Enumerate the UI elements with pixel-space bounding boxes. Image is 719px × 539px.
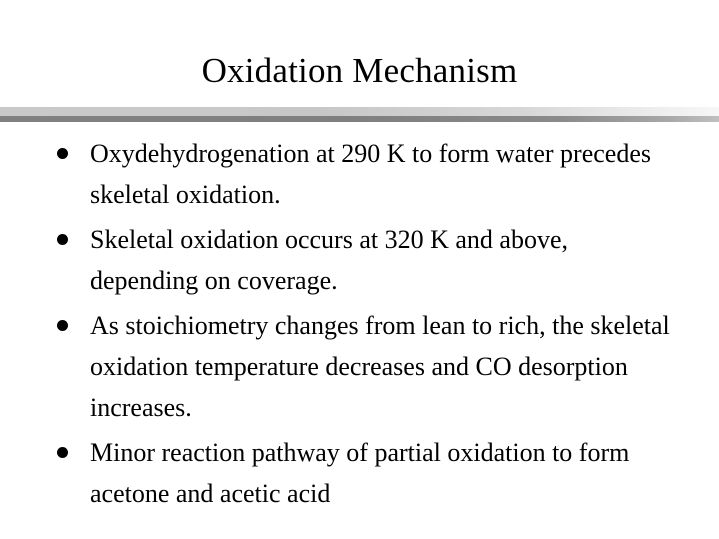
bullet-list: Oxydehydrogenation at 290 K to form wate… bbox=[0, 133, 719, 514]
bullet-dot-icon bbox=[57, 148, 68, 159]
bullet-dot-icon bbox=[57, 320, 68, 331]
bullet-dot-icon bbox=[57, 234, 68, 245]
list-item: Skeletal oxidation occurs at 320 K and a… bbox=[0, 219, 719, 301]
list-item: As stoichiometry changes from lean to ri… bbox=[0, 305, 719, 428]
slide-title-block: Oxidation Mechanism bbox=[0, 50, 719, 92]
list-item: Minor reaction pathway of partial oxidat… bbox=[0, 432, 719, 514]
list-item-label: Oxydehydrogenation at 290 K to form wate… bbox=[90, 133, 679, 215]
title-divider bbox=[0, 107, 719, 123]
list-item-label: Skeletal oxidation occurs at 320 K and a… bbox=[90, 219, 679, 301]
divider-band-dark bbox=[0, 116, 719, 122]
list-item-label: Minor reaction pathway of partial oxidat… bbox=[90, 432, 679, 514]
list-item: Oxydehydrogenation at 290 K to form wate… bbox=[0, 133, 719, 215]
list-item-label: As stoichiometry changes from lean to ri… bbox=[90, 305, 679, 428]
divider-band-light bbox=[0, 107, 719, 116]
page-title: Oxidation Mechanism bbox=[0, 50, 719, 92]
presentation-slide: Oxidation Mechanism Oxydehydrogenation a… bbox=[0, 0, 719, 539]
bullet-dot-icon bbox=[57, 447, 68, 458]
slide-body: Oxydehydrogenation at 290 K to form wate… bbox=[0, 133, 719, 518]
